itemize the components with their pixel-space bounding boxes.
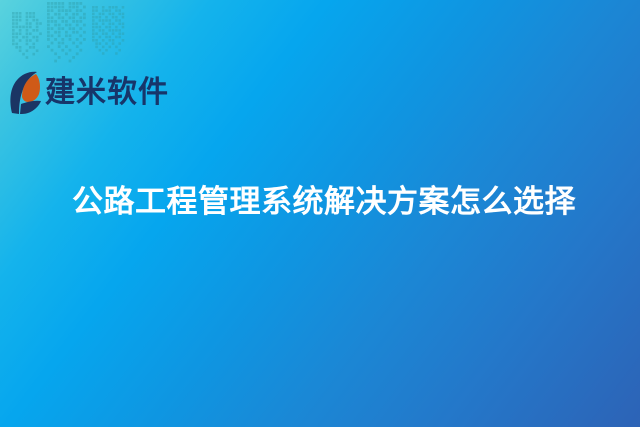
jianmi-leaf-logo-icon <box>8 71 42 115</box>
promo-banner: 建米软件 公路工程管理系统解决方案怎么选择 <box>0 0 640 427</box>
brand-logo[interactable]: 建米软件 <box>8 70 169 116</box>
headline-title: 公路工程管理系统解决方案怎么选择 <box>72 180 576 224</box>
qr-mosaic-pattern-icon <box>0 0 140 70</box>
brand-name-text: 建米软件 <box>45 78 169 108</box>
